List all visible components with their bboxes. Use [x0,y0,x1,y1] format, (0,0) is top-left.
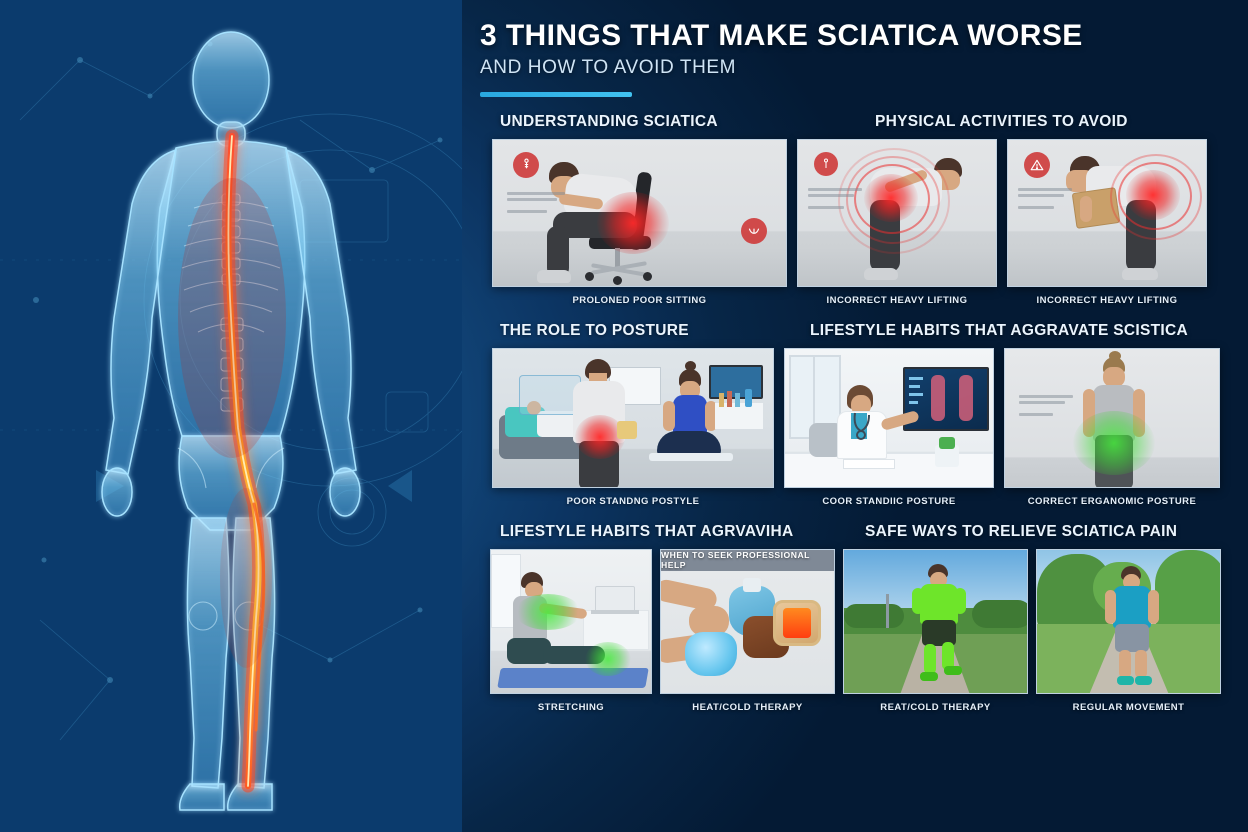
card-caption: COOR STANDIIC POSTURE [784,496,994,507]
thumb-woman-stretching-yoga-mat [490,549,652,694]
page-subtitle: AND HOW TO AVOID THEM [480,57,1200,79]
thumb-lifting-box-bad-form [1007,139,1207,287]
heading-understanding-sciatica: UNDERSTANDING SCIATICA [500,113,718,131]
decorative-text-lines [507,192,569,216]
card-poor-standing-posture[interactable]: POOR STANDNG POSTYLE [492,348,774,507]
spine-icon [513,152,539,178]
card-caption: HEAT/COLD THERAPY [660,702,835,713]
thumb-woman-correct-posture-green-glow [1004,348,1220,488]
accent-divider [480,92,632,97]
card-caption: INCORRECT HEAVY LIFTING [797,295,997,306]
x-ray-body-figure [66,18,396,818]
thumb-man-walking-park-path [1036,549,1221,694]
section-3-headings: LIFESTYLE HABITS THAT AGRVAVIHA SAFE WAY… [480,523,1200,549]
stethoscope-icon [847,411,879,445]
card-caption: REAT/COLD THERAPY [843,702,1028,713]
decorative-text-lines [808,188,866,212]
thumb-bending-forward-back-pain [797,139,997,287]
infographic-poster: 3 THINGS THAT MAKE SCIATICA WORSE AND HO… [0,0,1248,832]
card-incorrect-heavy-lifting-1[interactable]: INCORRECT HEAVY LIFTING [797,139,997,306]
section-3-cards: STRETCHING WHEN TO SEEK PROFESSIONAL HEL… [480,549,1200,713]
thumb-living-room-standing-vs-meditating [492,348,774,488]
card-heat-cold-therapy-2[interactable]: REAT/COLD THERAPY [843,549,1028,713]
card-stretching[interactable]: STRETCHING [490,549,652,713]
card-banner: WHEN TO SEEK PROFESSIONAL HELP [661,550,834,571]
decorative-text-lines [1019,395,1077,419]
card-correct-ergonomic-posture[interactable]: CORRECT ERGANOMIC POSTURE [1004,348,1220,507]
heading-safe-ways-to-relieve: SAFE WAYS TO RELIEVE SCIATICA PAIN [865,523,1177,541]
section-1-cards: PROLONED POOR SITTING [480,139,1200,306]
thumb-ice-pack-heat-pad-hands: WHEN TO SEEK PROFESSIONAL HELP [660,549,835,694]
thumb-doctor-pointing-anatomy-screen [784,348,994,488]
card-caption: PROLONED POOR SITTING [492,295,787,306]
content-panel: 3 THINGS THAT MAKE SCIATICA WORSE AND HO… [462,0,1248,832]
card-caption: REGULAR MOVEMENT [1036,702,1221,713]
warning-triangle-icon [1024,152,1050,178]
thumb-man-jogging-park-path [843,549,1028,694]
heading-physical-activities-to-avoid: PHYSICAL ACTIVITIES TO AVOID [875,113,1128,131]
section-2-headings: THE ROLE TO POSTURE LIFESTYLE HABITS THA… [480,322,1200,348]
page-title: 3 THINGS THAT MAKE SCIATICA WORSE [480,20,1200,52]
card-caption: POOR STANDNG POSTYLE [492,496,774,507]
section-role-of-posture: THE ROLE TO POSTURE LIFESTYLE HABITS THA… [480,322,1200,507]
card-heat-cold-therapy-1[interactable]: WHEN TO SEEK PROFESSIONAL HELP HEAT/COLD… [660,549,835,713]
thumb-sitting-slouched-office-chair [492,139,787,287]
pelvis-icon [741,218,767,244]
card-incorrect-heavy-lifting-2[interactable]: INCORRECT HEAVY LIFTING [1007,139,1207,306]
section-safe-relief: LIFESTYLE HABITS THAT AGRVAVIHA SAFE WAY… [480,523,1200,713]
card-caption: STRETCHING [490,702,652,713]
card-caption: INCORRECT HEAVY LIFTING [1007,295,1207,306]
heading-lifestyle-habits-aggravate: LIFESTYLE HABITS THAT AGGRAVATE SCISTICA [810,322,1188,340]
card-caption: CORRECT ERGANOMIC POSTURE [1004,496,1220,507]
spine-icon [814,152,838,176]
hero-panel [0,0,462,832]
heading-the-role-to-posture: THE ROLE TO POSTURE [500,322,689,340]
card-regular-movement[interactable]: REGULAR MOVEMENT [1036,549,1221,713]
decorative-text-lines [1018,188,1076,212]
card-doctor-consultation[interactable]: COOR STANDIIC POSTURE [784,348,994,507]
heading-lifestyle-habits-agrvaviha: LIFESTYLE HABITS THAT AGRVAVIHA [500,523,793,541]
section-understanding-sciatica: UNDERSTANDING SCIATICA PHYSICAL ACTIVITI… [480,113,1200,306]
card-prolonged-poor-sitting[interactable]: PROLONED POOR SITTING [492,139,787,306]
section-1-headings: UNDERSTANDING SCIATICA PHYSICAL ACTIVITI… [480,113,1200,139]
section-2-cards: POOR STANDNG POSTYLE [480,348,1200,507]
